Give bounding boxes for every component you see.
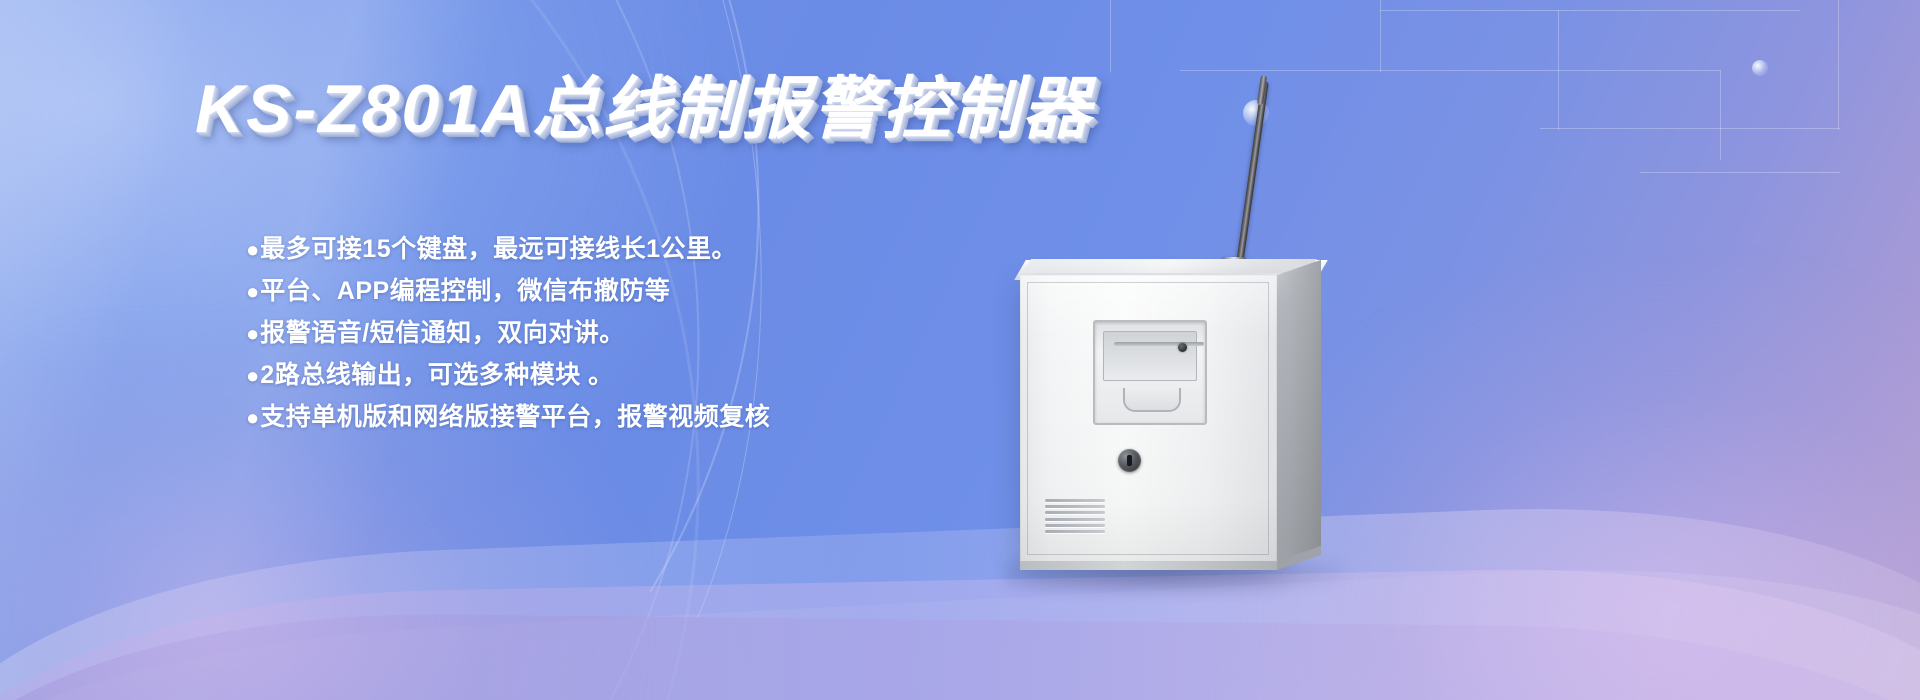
bullet-icon: ● — [246, 323, 259, 345]
bottom-ribbon-1 — [0, 490, 1920, 700]
vent-slot — [1045, 511, 1105, 514]
vent-slot — [1045, 505, 1105, 508]
paper-slot — [1114, 342, 1204, 346]
feature-list: ● 最多可接15个键盘，最远可接线长1公里。 ● 平台、APP编程控制，微信布撤… — [246, 237, 1006, 447]
product-image — [975, 75, 1395, 575]
grid-line-h-3 — [1540, 128, 1840, 129]
vent-slot — [1045, 499, 1105, 502]
bottom-ribbon-2 — [0, 560, 1920, 700]
vent-slot — [1045, 518, 1105, 521]
feature-item-1: ● 最多可接15个键盘，最远可接线长1公里。 — [246, 237, 1006, 262]
feature-text: 最多可接15个键盘，最远可接线长1公里。 — [260, 237, 737, 262]
status-led-icon — [1178, 343, 1187, 352]
grid-line-h-1 — [1180, 70, 1720, 71]
bullet-icon: ● — [246, 407, 259, 429]
bottom-ribbon-4 — [0, 545, 1920, 700]
feature-item-5: ● 支持单机版和网络版接警平台，报警视频复核 — [246, 405, 1006, 430]
enclosure-bottom-lip — [1020, 561, 1278, 570]
grid-line-v-3 — [1558, 10, 1559, 130]
grid-line-v-2 — [1380, 0, 1381, 72]
vent-slot — [1045, 524, 1105, 527]
bullet-icon: ● — [246, 365, 259, 387]
enclosure-top-highlight — [1023, 259, 1317, 273]
printer-door-handle — [1123, 388, 1181, 412]
grid-line-h-2 — [1380, 10, 1800, 11]
vent-slot — [1045, 530, 1105, 533]
antenna-rod — [1234, 80, 1269, 279]
page-title: KS-Z801A总线制报警控制器 — [195, 75, 1092, 143]
feature-text: 报警语音/短信通知，双向对讲。 — [260, 321, 624, 346]
enclosure-side-shading — [1277, 260, 1321, 563]
feature-item-4: ● 2路总线输出，可选多种模块 。 — [246, 363, 1006, 388]
product-banner: KS-Z801A总线制报警控制器 ● 最多可接15个键盘，最远可接线长1公里。 … — [0, 0, 1920, 700]
bullet-icon: ● — [246, 281, 259, 303]
feature-item-3: ● 报警语音/短信通知，双向对讲。 — [246, 321, 1006, 346]
feature-text: 平台、APP编程控制，微信布撤防等 — [260, 279, 670, 304]
printer-window-inner — [1103, 331, 1197, 381]
grid-line-v-5 — [1838, 0, 1839, 130]
bottom-ribbon-3 — [0, 609, 1920, 700]
bullet-icon: ● — [246, 239, 259, 261]
feature-item-2: ● 平台、APP编程控制，微信布撤防等 — [246, 279, 1006, 304]
feature-text: 支持单机版和网络版接警平台，报警视频复核 — [260, 405, 770, 430]
grid-line-h-4 — [1640, 172, 1840, 173]
feature-text: 2路总线输出，可选多种模块 。 — [260, 363, 613, 388]
printer-window — [1093, 320, 1207, 425]
grid-line-v-4 — [1720, 70, 1721, 160]
grid-node-dot-2 — [1752, 60, 1768, 76]
door-lock-icon — [1118, 449, 1141, 472]
grid-line-v-1 — [1110, 0, 1111, 72]
ventilation-slots — [1045, 499, 1105, 533]
